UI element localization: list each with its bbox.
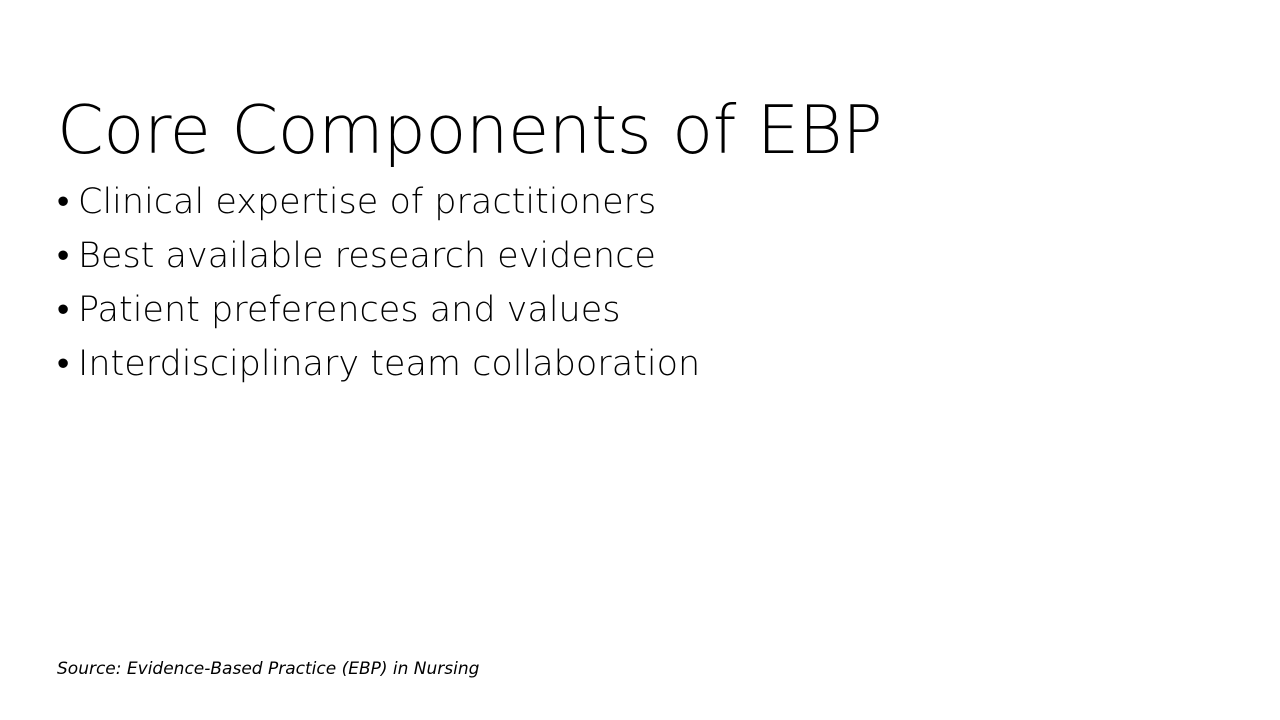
list-item: • Clinical expertise of practitioners bbox=[57, 183, 1177, 237]
list-item-label: Clinical expertise of practitioners bbox=[78, 183, 656, 221]
bullet-point-icon: • bbox=[57, 345, 78, 383]
list-item-label: Patient preferences and values bbox=[78, 291, 621, 329]
list-item: • Best available research evidence bbox=[57, 237, 1177, 291]
bullet-point-icon: • bbox=[57, 291, 78, 329]
list-item: • Interdisciplinary team collaboration bbox=[57, 345, 1177, 399]
bullet-point-icon: • bbox=[57, 183, 78, 221]
list-item-label: Interdisciplinary team collaboration bbox=[78, 345, 700, 383]
bullet-list: • Clinical expertise of practitioners • … bbox=[57, 183, 1177, 399]
bullet-point-icon: • bbox=[57, 237, 78, 275]
list-item: • Patient preferences and values bbox=[57, 291, 1177, 345]
page-title: Core Components of EBP bbox=[57, 97, 1217, 164]
list-item-label: Best available research evidence bbox=[78, 237, 656, 275]
source-citation: Source: Evidence-Based Practice (EBP) in… bbox=[57, 658, 479, 680]
presentation-slide: Core Components of EBP • Clinical expert… bbox=[0, 0, 1280, 720]
